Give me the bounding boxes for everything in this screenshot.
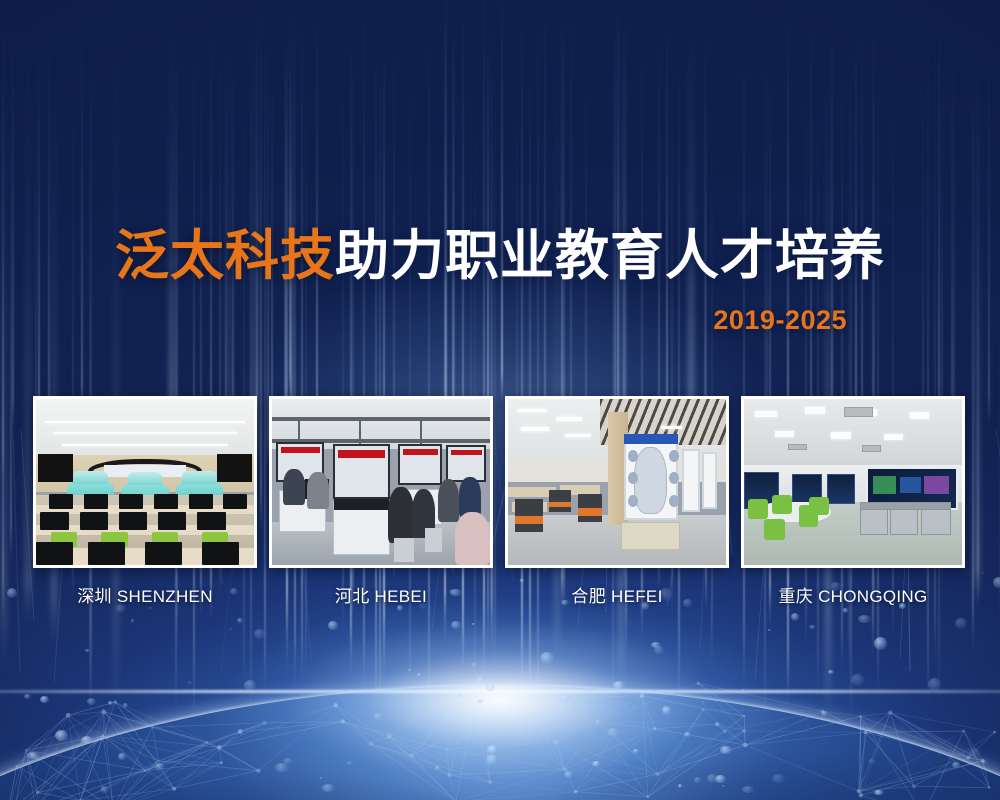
photo-electrical-training-workstations: [272, 399, 490, 565]
year-range-label: 2019-2025: [713, 305, 847, 336]
caption-shenzhen: 深圳 SHENZHEN: [33, 582, 257, 607]
poster-canvas: 泛太科技助力职业教育人才培养 2019-2025: [0, 0, 1000, 800]
gallery-item-hebei[interactable]: [269, 396, 493, 568]
horizon-glow-line: [0, 690, 1000, 693]
gallery-item-chongqing[interactable]: [741, 396, 965, 568]
photo-vehicle-control-system-lab: [508, 399, 726, 565]
caption-hebei: 河北 HEBEI: [269, 582, 493, 607]
gallery-strip: [33, 396, 965, 568]
page-title: 泛太科技助力职业教育人才培养: [0, 229, 1000, 283]
gallery-item-hefei[interactable]: [505, 396, 729, 568]
page-title-brand: 泛太科技: [115, 224, 335, 287]
network-mesh-overlay: [0, 640, 1000, 800]
page-title-rest: 助力职业教育人才培养: [335, 224, 885, 287]
photo-automotive-training-classroom: [36, 399, 254, 565]
gallery-item-shenzhen[interactable]: [33, 396, 257, 568]
gallery-captions: 深圳 SHENZHEN 河北 HEBEI 合肥 HEFEI 重庆 CHONGQI…: [33, 582, 965, 607]
caption-chongqing: 重庆 CHONGQING: [741, 582, 965, 607]
photo-smart-display-lab: [744, 399, 962, 565]
caption-hefei: 合肥 HEFEI: [505, 582, 729, 607]
